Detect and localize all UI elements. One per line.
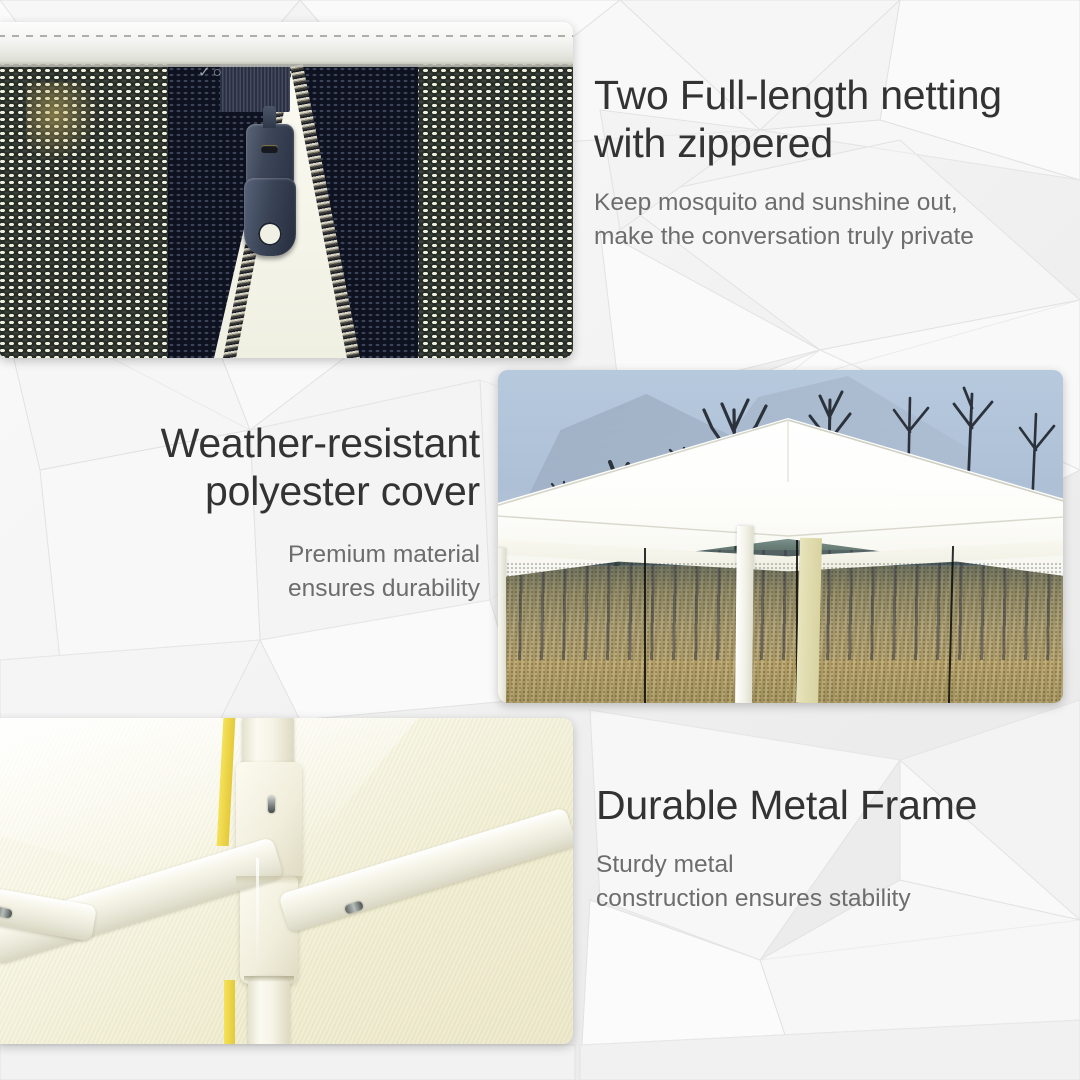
- sub-line-1: Premium material: [80, 538, 480, 572]
- heading-line-2: polyester cover: [80, 468, 480, 516]
- sub-line-1: Sturdy metal: [596, 848, 1056, 882]
- mesh-side-wall: [498, 562, 1063, 703]
- hub-screw-top: [268, 796, 275, 813]
- zipper-pull-tab: [244, 178, 296, 256]
- feature-cover-heading: Weather-resistant polyester cover: [80, 420, 480, 516]
- canopy-post-front: [735, 526, 754, 703]
- fabric-binding-strip: [0, 22, 573, 64]
- yellow-trim-lower: [224, 980, 235, 1044]
- zipper-assembly: ✓○: [168, 60, 418, 358]
- netting-zipper-photo: ✓○: [0, 22, 573, 358]
- vertical-pole-bottom: [248, 976, 290, 1044]
- feature-cover-subtext: Premium material ensures durability: [80, 538, 480, 605]
- heading-line-1: Weather-resistant: [80, 420, 480, 468]
- pole-collar-ring: [244, 976, 294, 982]
- hub-collar-ring: [236, 876, 302, 884]
- feature-frame-text-block: Durable Metal Frame Sturdy metal constru…: [596, 782, 1056, 915]
- metal-frame-joint-photo: [0, 718, 573, 1044]
- feature-frame-heading: Durable Metal Frame: [596, 782, 1056, 830]
- sub-line-1: Keep mosquito and sunshine out,: [594, 186, 1064, 220]
- sub-line-2: make the conversation truly private: [594, 220, 1064, 254]
- feature-netting-subtext: Keep mosquito and sunshine out, make the…: [594, 186, 1064, 253]
- canopy-post-left: [498, 548, 506, 703]
- mesh-stain: [26, 82, 98, 160]
- heading-line-1: Two Full-length netting: [594, 72, 1064, 120]
- mesh-seam-1: [644, 548, 646, 703]
- zipper-slider-body: [246, 124, 294, 186]
- binding-edge-shadow: [0, 62, 573, 67]
- sub-line-2: ensures durability: [80, 572, 480, 606]
- canopy-post-rear: [796, 538, 822, 703]
- heading-line-2: with zippered: [594, 120, 1064, 168]
- feature-netting-text-block: Two Full-length netting with zippered Ke…: [594, 72, 1064, 253]
- feature-netting-heading: Two Full-length netting with zippered: [594, 72, 1064, 168]
- feature-frame-subtext: Sturdy metal construction ensures stabil…: [596, 848, 1056, 915]
- sub-line-2: construction ensures stability: [596, 882, 1056, 916]
- heading-line-1: Durable Metal Frame: [596, 782, 1056, 830]
- hub-highlight-seam: [256, 858, 259, 968]
- feature-cover-text-block: Weather-resistant polyester cover Premiu…: [80, 420, 480, 605]
- gazebo-outdoor-photo: [498, 370, 1063, 703]
